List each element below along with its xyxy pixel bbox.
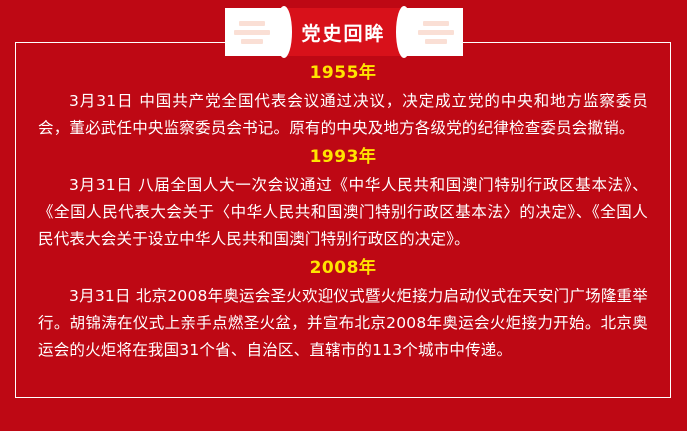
ribbon-title-plate: 党史回眸 [285,8,403,56]
entry-year-heading: 2008年 [38,257,648,279]
page-title: 党史回眸 [301,19,385,46]
ornament-bar [418,30,454,35]
party-history-poster: 党史回眸 1955年 3月31日 中国共产党全国代表会议通过决议，决定成立党的中… [0,0,687,431]
entry-body-text: 3月31日 八届全国人大一次会议通过《中华人民共和国澳门特别行政区基本法》、《全… [38,172,648,253]
ribbon-lines-right-icon [403,8,463,56]
ornament-bar [425,39,447,44]
ornament-bar [239,21,265,26]
entry-year-heading: 1993年 [38,146,648,168]
ornament-bar [423,21,449,26]
entry-body-text: 3月31日 北京2008年奥运会圣火欢迎仪式暨火炬接力启动仪式在天安门广场隆重举… [38,283,648,364]
entry-year-heading: 1955年 [38,62,648,84]
header-ribbon: 党史回眸 [0,8,687,56]
ornament-bar [234,30,270,35]
entry-body-text: 3月31日 中国共产党全国代表会议通过决议，决定成立党的中央和地方监察委员会，董… [38,88,648,142]
timeline-content: 1955年 3月31日 中国共产党全国代表会议通过决议，决定成立党的中央和地方监… [16,56,670,397]
ornament-bar [241,39,263,44]
